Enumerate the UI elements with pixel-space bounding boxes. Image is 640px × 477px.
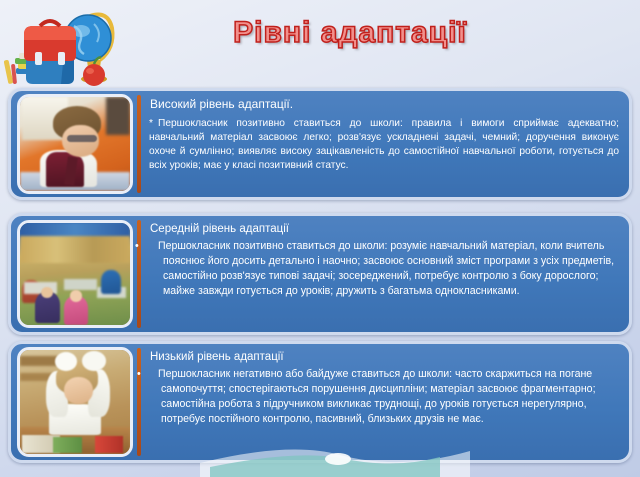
bullet-marker-high: * [149,117,158,131]
body-text-high: Першокласник позитивно ставиться до школ… [149,118,619,171]
bullet-marker-low: • [149,367,158,382]
heading-low: Низький рівень адаптації [150,350,619,364]
photo-frame-high [11,91,137,197]
body-text-medium: Першокласник позитивно ставиться до школ… [158,240,614,296]
text-column-medium: Середній рівень адаптації •Першокласник … [141,216,629,332]
photo-classroom-with-pupils [17,220,133,328]
text-column-high: Високий рівень адаптації. *Першокласник … [141,91,629,197]
body-high: *Першокласник позитивно ставиться до шко… [149,117,619,173]
level-block-high: Високий рівень адаптації. *Першокласник … [8,88,632,200]
body-low: •Першокласник негативно або байдуже став… [149,367,619,426]
presentation-slide: Рівні адаптації Високий рівень адаптації… [0,0,640,477]
photo-frame-medium [11,216,137,332]
heading-high: Високий рівень адаптації. [150,97,619,112]
slide-title: Рівні адаптації [0,16,640,50]
photo-boy-with-glasses-writing [17,94,133,194]
decorative-swoosh [0,433,640,477]
heading-medium: Середній рівень адаптації [150,222,619,236]
bullet-marker-medium: • [149,239,158,254]
level-block-medium: Середній рівень адаптації •Першокласник … [8,213,632,335]
body-text-low: Першокласник негативно або байдуже стави… [158,368,596,424]
body-medium: •Першокласник позитивно ставиться до шко… [149,239,619,298]
